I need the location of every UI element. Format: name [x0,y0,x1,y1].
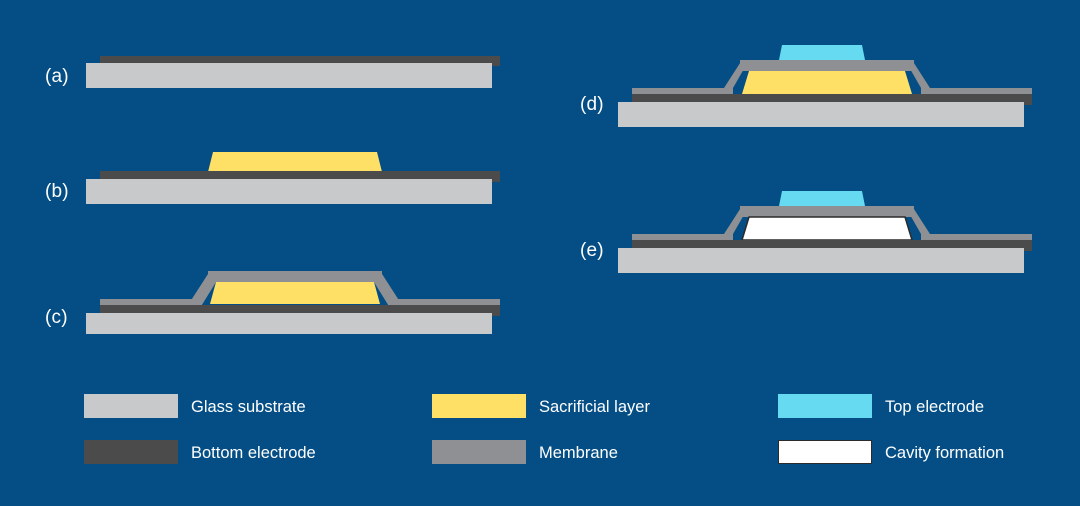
panel-e-graphic [612,184,1032,274]
sacrificial-layer-shape [742,71,912,94]
glass-substrate-layer [86,63,492,88]
membrane-top-cap [740,206,914,217]
panel-a-graphic [80,40,500,100]
legend-label-bottom-electrode: Bottom electrode [191,445,316,462]
cavity-formation-shape [742,217,912,240]
sacrificial-layer-shape [210,282,380,304]
legend-swatch-cavity-formation [778,440,872,464]
panel-d-graphic [612,38,1032,128]
legend-label-sacrificial-layer: Sacrificial layer [539,399,650,416]
panel-label-d: (d) [580,94,604,116]
glass-substrate-layer [618,248,1024,273]
panel-c-graphic [80,262,500,334]
panel-label-e: (e) [580,240,604,262]
legend-swatch-membrane [432,440,526,464]
process-flow-figure: (a) (b) (c) [0,0,1080,506]
glass-substrate-layer [618,102,1024,127]
panel-b-graphic [80,140,500,210]
panel-label-c: (c) [45,307,68,329]
legend-swatch-glass-substrate [84,394,178,418]
legend-swatch-top-electrode [778,394,872,418]
legend-label-top-electrode: Top electrode [885,399,984,416]
sacrificial-layer-shape [208,152,382,172]
glass-substrate-layer [86,179,492,204]
top-electrode-shape [779,191,865,206]
legend-label-glass-substrate: Glass substrate [191,399,306,416]
membrane-top-cap [208,271,382,282]
legend-swatch-bottom-electrode [84,440,178,464]
legend-label-cavity-formation: Cavity formation [885,445,1004,462]
panel-label-a: (a) [45,66,69,88]
legend-swatch-sacrificial-layer [432,394,526,418]
panel-label-b: (b) [45,181,69,203]
legend-label-membrane: Membrane [539,445,618,462]
glass-substrate-layer [86,313,492,334]
top-electrode-shape [779,45,865,60]
membrane-top-cap [740,60,914,71]
